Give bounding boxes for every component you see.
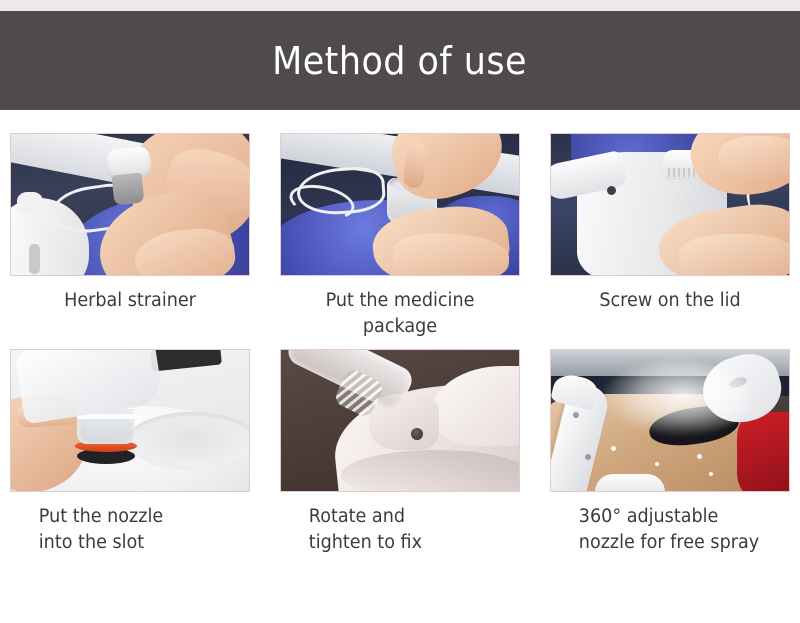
step-caption-4-line-2: into the slot (39, 530, 244, 556)
step-card-2: Put the medicine package (280, 133, 520, 341)
step-caption-5-line-1: Rotate and (309, 504, 514, 530)
step-card-1: Herbal strainer (10, 133, 250, 341)
nozzle-into-slot-photo (10, 349, 250, 492)
step-caption-2-line-1: Put the medicine (286, 288, 514, 314)
step-caption-1: Herbal strainer (16, 288, 244, 314)
step-caption-3-line-1: Screw on the lid (556, 288, 784, 314)
herbal-strainer-photo (10, 133, 250, 276)
adjustable-spray-photo (550, 349, 790, 492)
step-caption-6-line-2: nozzle for free spray (579, 530, 784, 556)
step-caption-4: Put the nozzle into the slot (16, 504, 244, 557)
step-caption-6-line-1: 360° adjustable (579, 504, 784, 530)
step-caption-5-line-2: tighten to fix (309, 530, 514, 556)
step-caption-3: Screw on the lid (556, 288, 784, 314)
put-medicine-package-photo (280, 133, 520, 276)
step-card-3: Screw on the lid (550, 133, 790, 341)
steps-grid: Herbal strainer Put the medicin (10, 133, 790, 556)
header-banner: Method of use (0, 11, 800, 110)
step-caption-2-line-2: package (286, 314, 514, 340)
step-caption-5: Rotate and tighten to fix (286, 504, 514, 557)
method-of-use-page: Method of use Herbal strain (0, 0, 800, 623)
page-title: Method of use (273, 42, 528, 80)
rotate-tighten-photo (280, 349, 520, 492)
screw-on-lid-photo (550, 133, 790, 276)
top-strip (0, 0, 800, 11)
step-caption-6: 360° adjustable nozzle for free spray (556, 504, 784, 557)
step-caption-2: Put the medicine package (286, 288, 514, 341)
step-caption-1-line-1: Herbal strainer (16, 288, 244, 314)
step-card-5: Rotate and tighten to fix (280, 349, 520, 557)
step-caption-4-line-1: Put the nozzle (39, 504, 244, 530)
step-card-4: Put the nozzle into the slot (10, 349, 250, 557)
step-card-6: 360° adjustable nozzle for free spray (550, 349, 790, 557)
